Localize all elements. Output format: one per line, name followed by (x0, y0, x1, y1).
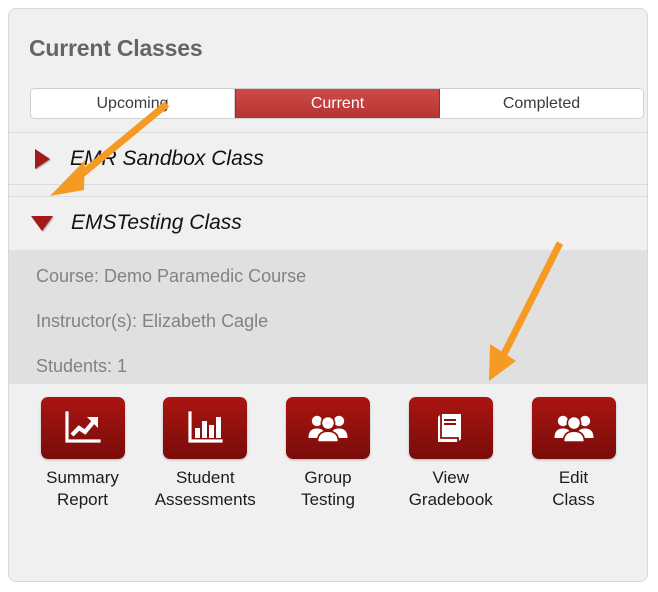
action-label: Summary Report (46, 467, 119, 511)
tab-upcoming[interactable]: Upcoming (31, 89, 235, 118)
current-classes-panel: Current Classes Upcoming Current Complet… (8, 8, 648, 582)
edit-class-button[interactable]: Edit Class (522, 384, 625, 535)
class-status-tabs: Upcoming Current Completed (30, 88, 644, 119)
users-group-icon (286, 397, 370, 459)
action-label: Group Testing (301, 467, 355, 511)
student-assessments-button[interactable]: Student Assessments (154, 384, 257, 535)
triangle-down-icon[interactable] (31, 216, 53, 231)
triangle-right-icon[interactable] (35, 149, 50, 169)
page-title: Current Classes (29, 35, 202, 62)
bar-chart-icon (163, 397, 247, 459)
detail-course: Course: Demo Paramedic Course (36, 266, 306, 287)
action-label: View Gradebook (409, 467, 493, 511)
class-detail-panel: Course: Demo Paramedic Course Instructor… (9, 250, 647, 384)
view-gradebook-button[interactable]: View Gradebook (399, 384, 502, 535)
class-row-emstesting[interactable]: EMSTesting Class (9, 196, 647, 249)
detail-instructors: Instructor(s): Elizabeth Cagle (36, 311, 268, 332)
action-label: Edit Class (552, 467, 595, 511)
group-testing-button[interactable]: Group Testing (277, 384, 380, 535)
line-chart-icon (41, 397, 125, 459)
class-actions-bar: Summary Report Student Assessments (9, 384, 647, 535)
class-name-label: EMR Sandbox Class (70, 147, 264, 171)
detail-students: Students: 1 (36, 356, 127, 377)
tab-current[interactable]: Current (235, 89, 440, 118)
action-label: Student Assessments (155, 467, 256, 511)
book-icon (409, 397, 493, 459)
class-row-emr-sandbox[interactable]: EMR Sandbox Class (9, 132, 647, 185)
class-name-label: EMSTesting Class (71, 211, 242, 235)
users-group-icon (532, 397, 616, 459)
tab-completed[interactable]: Completed (440, 89, 643, 118)
summary-report-button[interactable]: Summary Report (31, 384, 134, 535)
